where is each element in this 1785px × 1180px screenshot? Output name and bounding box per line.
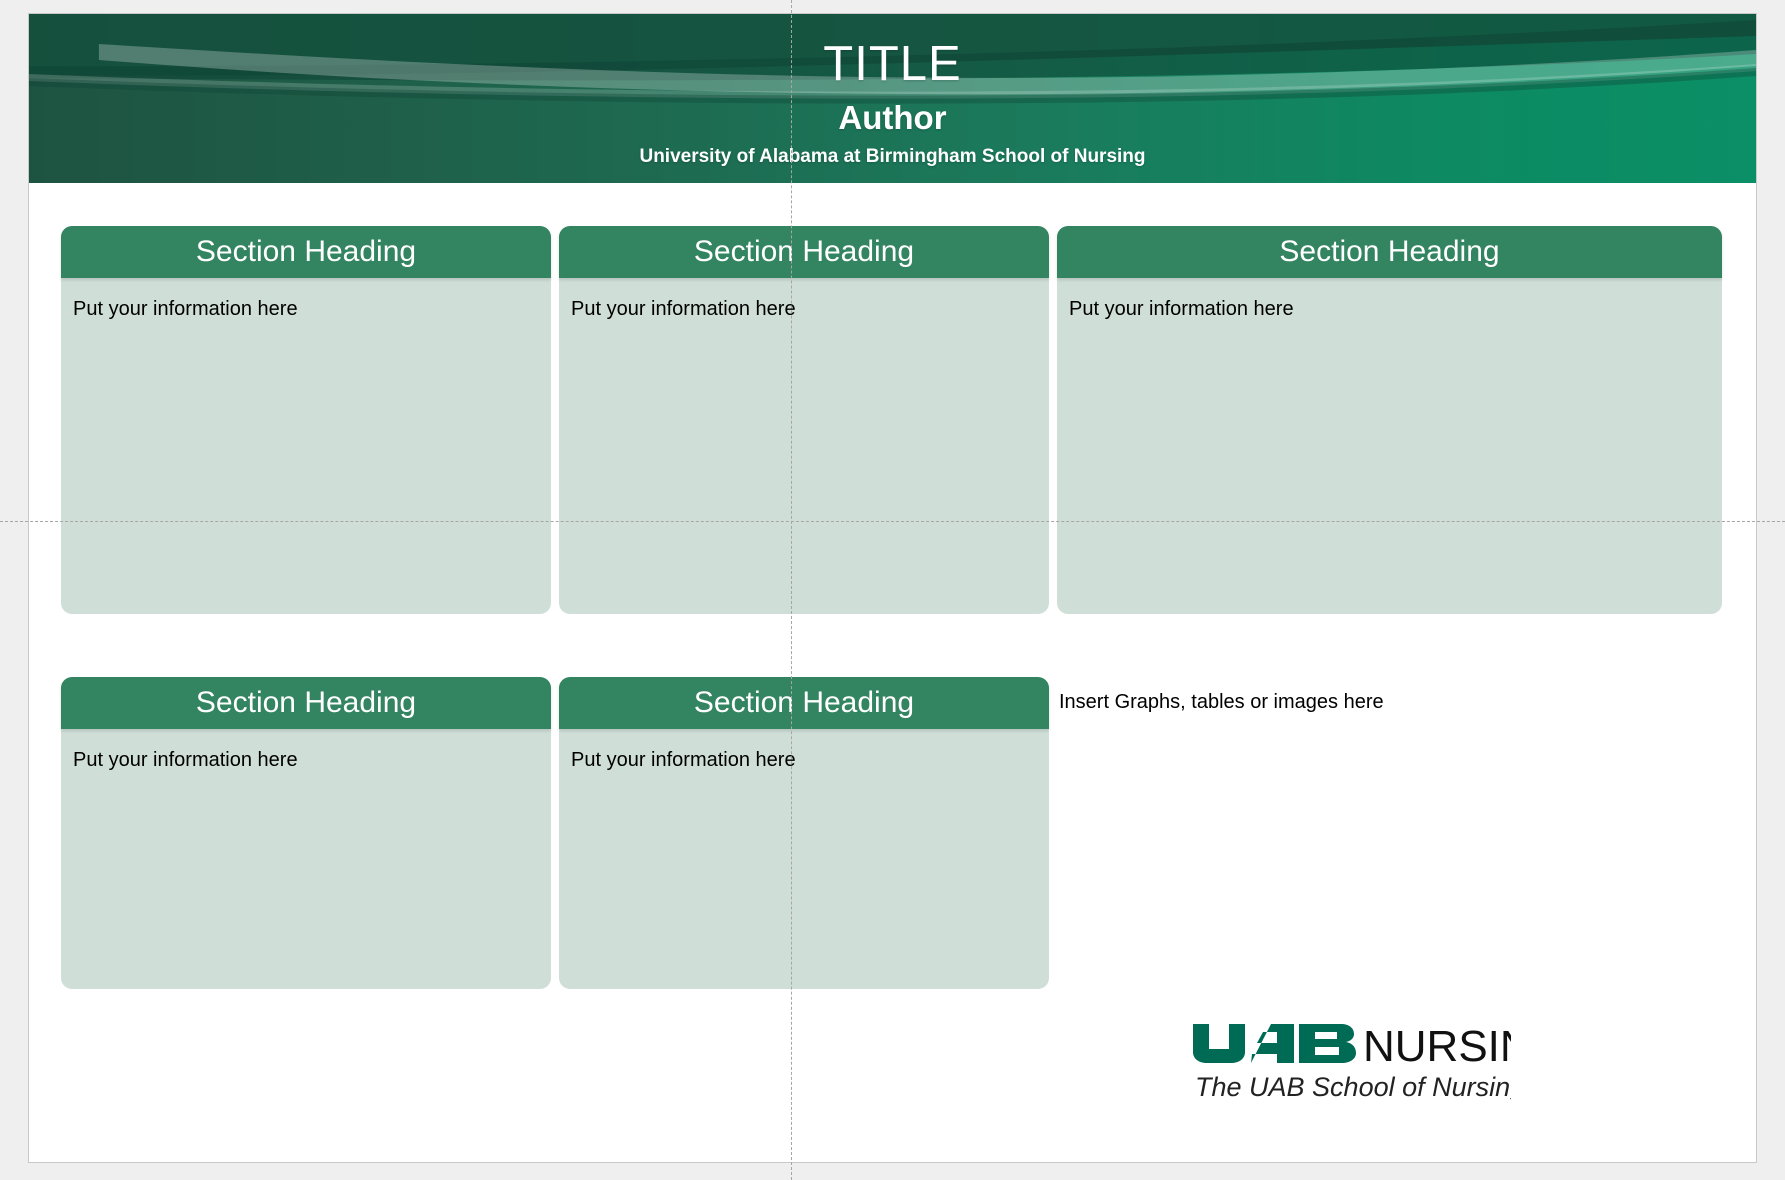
graphs-placeholder-text[interactable]: Insert Graphs, tables or images here xyxy=(1059,691,1384,714)
section-body-3[interactable]: Put your information here xyxy=(1057,278,1722,614)
uab-mark-icon xyxy=(1193,1024,1356,1063)
section-card-2[interactable]: Section Heading Put your information her… xyxy=(559,226,1049,614)
section-body-5[interactable]: Put your information here xyxy=(559,729,1049,989)
section-card-1[interactable]: Section Heading Put your information her… xyxy=(61,226,551,614)
section-body-4[interactable]: Put your information here xyxy=(61,729,551,989)
section-card-5[interactable]: Section Heading Put your information her… xyxy=(559,677,1049,989)
section-body-text-5[interactable]: Put your information here xyxy=(571,749,1037,772)
page-title: TITLE xyxy=(29,40,1756,89)
section-card-4[interactable]: Section Heading Put your information her… xyxy=(61,677,551,989)
section-heading-2[interactable]: Section Heading xyxy=(559,226,1049,278)
section-body-text-2[interactable]: Put your information here xyxy=(571,298,1037,321)
banner-text-block: TITLE Author University of Alabama at Bi… xyxy=(29,14,1756,168)
section-heading-5[interactable]: Section Heading xyxy=(559,677,1049,729)
logo-wordmark: NURSING xyxy=(1363,1022,1511,1071)
uab-nursing-logo: NURSING The UAB School of Nursing xyxy=(1191,1016,1511,1106)
section-body-2[interactable]: Put your information here xyxy=(559,278,1049,614)
section-card-3[interactable]: Section Heading Put your information her… xyxy=(1057,226,1722,614)
poster-affiliation: University of Alabama at Birmingham Scho… xyxy=(29,146,1756,168)
logo-tagline: The UAB School of Nursing xyxy=(1195,1072,1511,1102)
section-body-1[interactable]: Put your information here xyxy=(61,278,551,614)
section-heading-4[interactable]: Section Heading xyxy=(61,677,551,729)
section-body-text-3[interactable]: Put your information here xyxy=(1069,298,1710,321)
section-body-text-1[interactable]: Put your information here xyxy=(73,298,539,321)
poster-header-banner: TITLE Author University of Alabama at Bi… xyxy=(29,14,1756,183)
section-body-text-4[interactable]: Put your information here xyxy=(73,749,539,772)
uab-nursing-logo-graphic: NURSING The UAB School of Nursing xyxy=(1191,1016,1511,1106)
section-heading-1[interactable]: Section Heading xyxy=(61,226,551,278)
poster-slide: TITLE Author University of Alabama at Bi… xyxy=(28,13,1757,1163)
section-heading-3[interactable]: Section Heading xyxy=(1057,226,1722,278)
poster-author: Author xyxy=(29,99,1756,137)
